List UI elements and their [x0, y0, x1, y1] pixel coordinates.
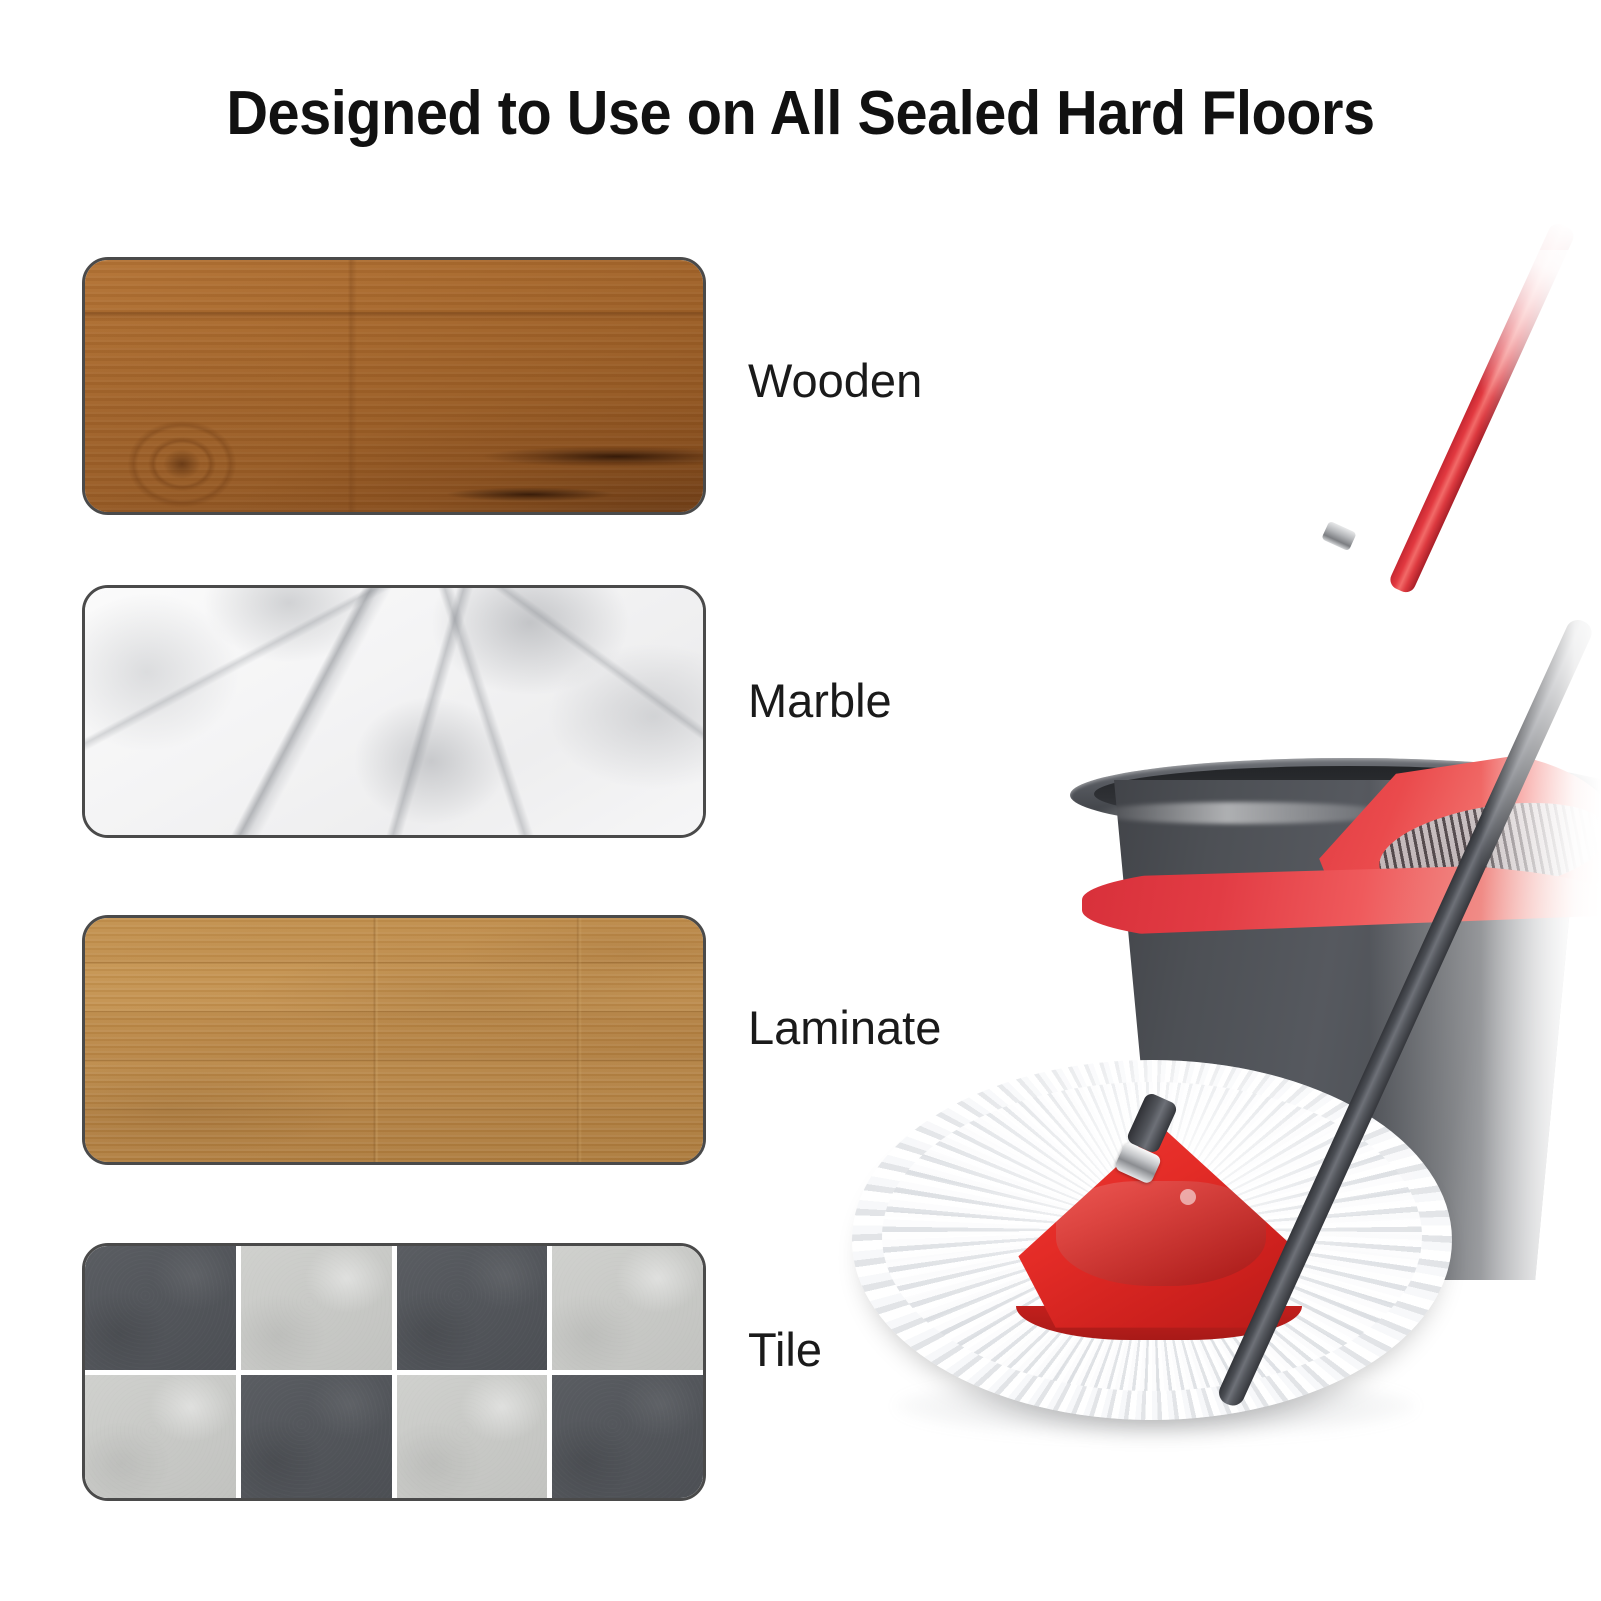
wooden-floor-swatch: [82, 257, 706, 515]
tile-cell: [397, 1246, 548, 1370]
tile-cell: [552, 1375, 703, 1499]
mop-pole-upper: [1387, 221, 1577, 596]
tile-cell: [397, 1375, 548, 1499]
marble-floor-swatch: [82, 585, 706, 838]
tile-floor-swatch: [82, 1243, 706, 1501]
tile-cell: [241, 1246, 392, 1370]
product-photo-spin-mop-bucket: [830, 250, 1601, 1540]
tile-cell: [241, 1375, 392, 1499]
page-title: Designed to Use on All Sealed Hard Floor…: [56, 78, 1545, 149]
tile-cell: [85, 1246, 236, 1370]
wooden-texture: [85, 260, 703, 512]
tile-cell: [552, 1246, 703, 1370]
tile-texture: [85, 1246, 703, 1498]
tile-cell: [85, 1375, 236, 1499]
floor-type-label-tile: Tile: [748, 1322, 822, 1377]
mop-pole-collar: [1321, 521, 1357, 552]
infographic-canvas: Designed to Use on All Sealed Hard Floor…: [0, 0, 1601, 1601]
laminate-floor-swatch: [82, 915, 706, 1165]
marble-texture: [85, 588, 703, 835]
laminate-texture: [85, 918, 703, 1162]
bucket-rim-highlight: [1092, 802, 1392, 824]
